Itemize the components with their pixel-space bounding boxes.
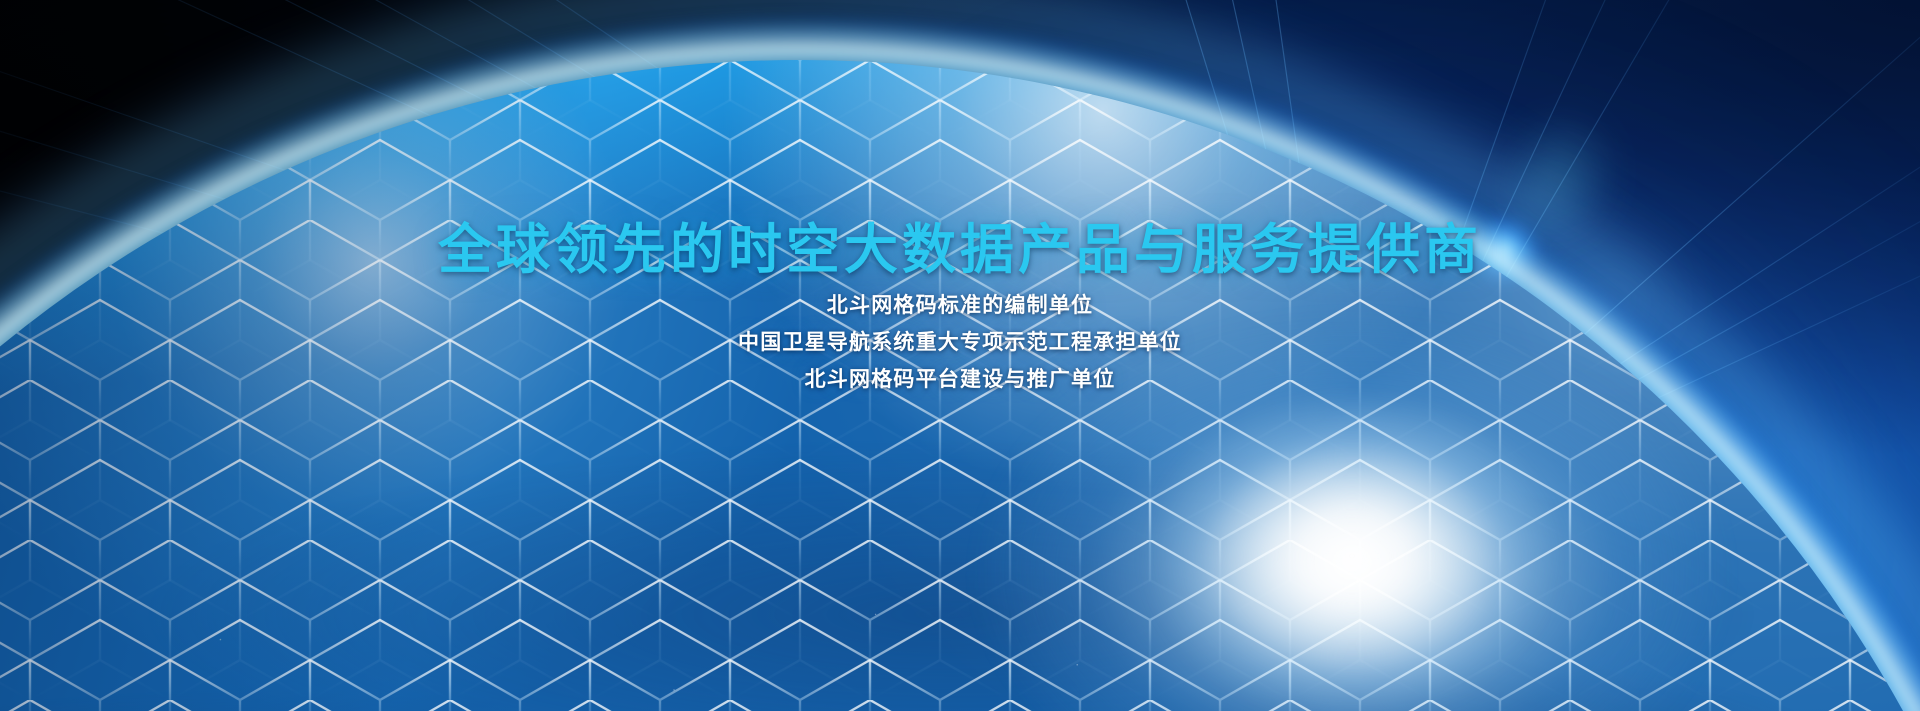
- banner-subtitle-list: 北斗网格码标准的编制单位 中国卫星导航系统重大专项示范工程承担单位 北斗网格码平…: [0, 287, 1920, 398]
- banner-subtitle-line-1: 北斗网格码标准的编制单位: [0, 287, 1920, 324]
- hero-banner: 全球领先的时空大数据产品与服务提供商 北斗网格码标准的编制单位 中国卫星导航系统…: [0, 0, 1920, 711]
- banner-headline: 全球领先的时空大数据产品与服务提供商: [0, 205, 1920, 284]
- banner-subtitle-line-3: 北斗网格码平台建设与推广单位: [0, 361, 1920, 398]
- banner-subtitle-line-2: 中国卫星导航系统重大专项示范工程承担单位: [0, 324, 1920, 361]
- sun-core: [1142, 391, 1562, 711]
